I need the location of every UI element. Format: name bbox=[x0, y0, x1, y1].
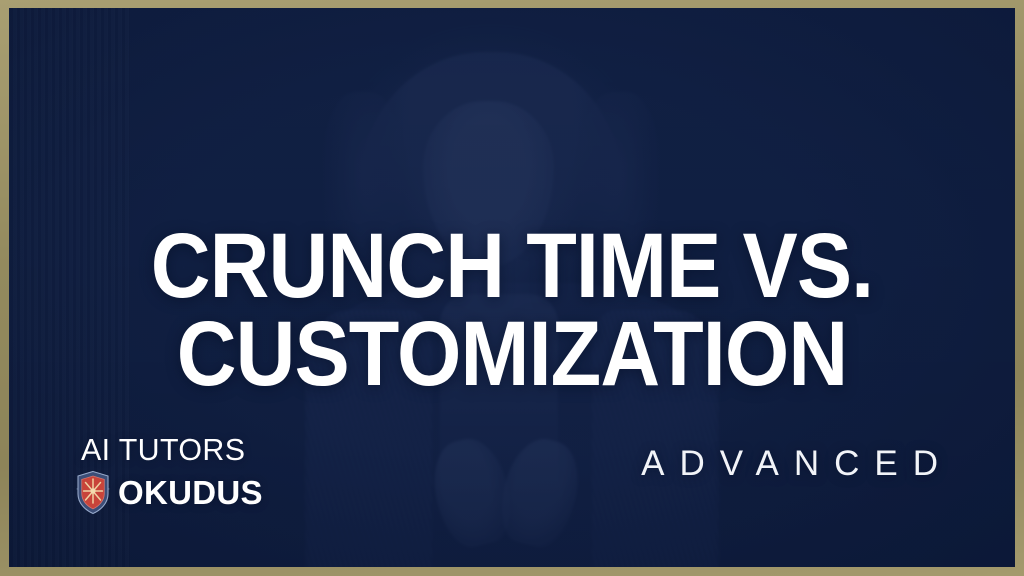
shield-crest-icon bbox=[75, 470, 111, 515]
level-badge: ADVANCED bbox=[641, 446, 953, 481]
brand-lockup-row: OKUDUS bbox=[75, 470, 275, 515]
page-title: CRUNCH TIME VS. CUSTOMIZATION bbox=[59, 222, 964, 398]
brand-name-secondary: OKUDUS bbox=[118, 476, 263, 509]
brand-name-primary: AI TUTORS bbox=[81, 434, 273, 465]
slide-stage: CRUNCH TIME VS. CUSTOMIZATION AI TUTORS bbox=[9, 8, 1015, 567]
slide-frame: CRUNCH TIME VS. CUSTOMIZATION AI TUTORS bbox=[0, 0, 1024, 576]
brand-logo: AI TUTORS bbox=[75, 434, 275, 515]
slide-content: CRUNCH TIME VS. CUSTOMIZATION AI TUTORS bbox=[9, 8, 1015, 567]
title-line-2: CUSTOMIZATION bbox=[59, 310, 964, 398]
title-line-1: CRUNCH TIME VS. bbox=[59, 222, 964, 310]
